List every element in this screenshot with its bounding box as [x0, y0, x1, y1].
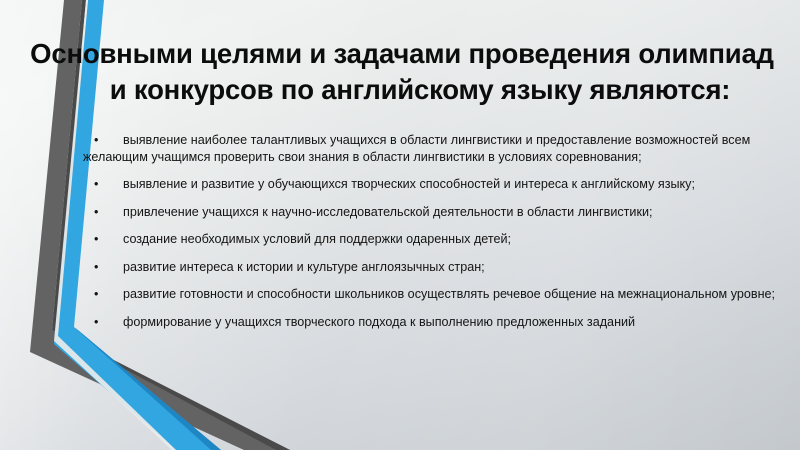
bullet-marker-icon: • [94, 314, 98, 331]
list-item: • создание необходимых условий для подде… [80, 231, 792, 248]
list-item-text: выявление и развитие у обучающихся творч… [80, 176, 792, 193]
list-item: • выявление наиболее талантливых учащихс… [80, 132, 792, 165]
slide-title: Основными целями и задачами проведения о… [16, 36, 788, 108]
chevron-blue-shadow [74, 327, 221, 450]
title-line-1: Основными целями и задачами проведения о… [16, 36, 788, 72]
bullet-marker-icon: • [94, 176, 98, 193]
list-item: • выявление и развитие у обучающихся тво… [80, 176, 792, 193]
list-item: • привлечение учащихся к научно-исследов… [80, 204, 792, 221]
title-line-2: и конкурсов по английскому языку являютс… [16, 72, 788, 108]
bullet-marker-icon: • [94, 286, 98, 303]
list-item-text: формирование у учащихся творческого подх… [80, 314, 792, 331]
list-item-text: выявление наиболее талантливых учащихся … [80, 132, 792, 165]
list-item: • развитие готовности и способности школ… [80, 286, 792, 303]
list-item-text: создание необходимых условий для поддерж… [80, 231, 792, 248]
slide-canvas: Основными целями и задачами проведения о… [0, 0, 800, 450]
bullet-marker-icon: • [94, 132, 98, 149]
bullet-marker-icon: • [94, 259, 98, 276]
bullet-marker-icon: • [94, 231, 98, 248]
list-item: • формирование у учащихся творческого по… [80, 314, 792, 331]
list-item-text: развитие интереса к истории и культуре а… [80, 259, 792, 276]
list-item-text: развитие готовности и способности школьн… [80, 286, 792, 303]
list-item: • развитие интереса к истории и культуре… [80, 259, 792, 276]
bullet-marker-icon: • [94, 204, 98, 221]
bullet-list: • выявление наиболее талантливых учащихс… [80, 132, 792, 330]
list-item-text: привлечение учащихся к научно-исследоват… [80, 204, 792, 221]
